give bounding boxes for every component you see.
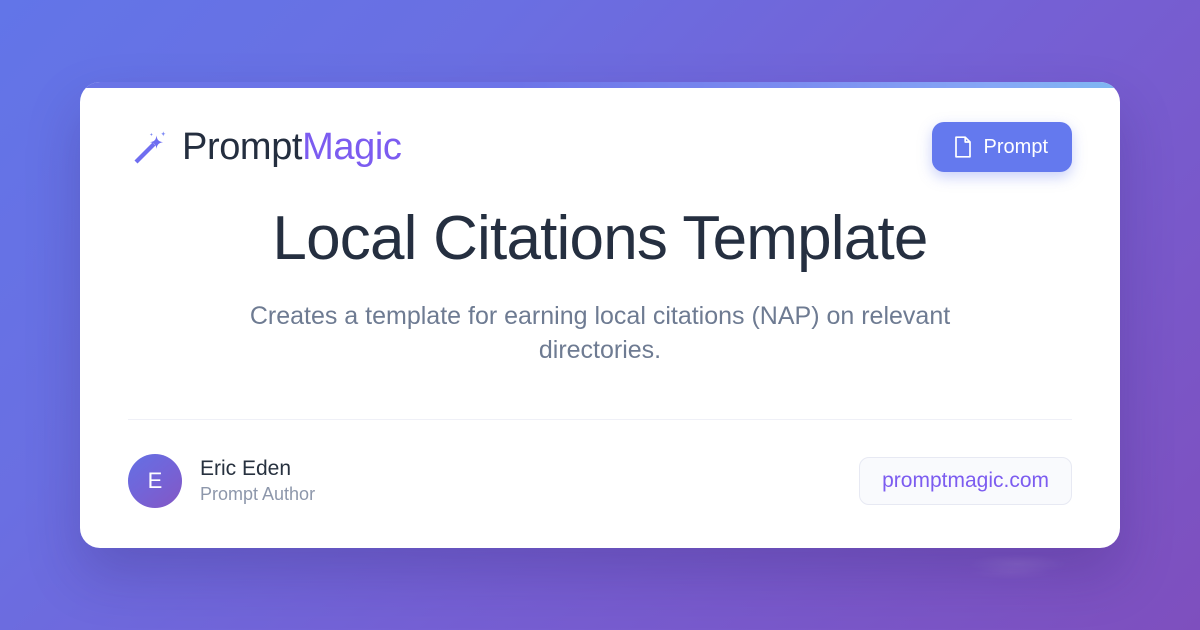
site-url-badge[interactable]: promptmagic.com xyxy=(859,457,1072,505)
document-icon xyxy=(953,136,973,158)
share-card: PromptMagic Prompt Local Citations Templ… xyxy=(80,82,1120,548)
card-footer: E Eric Eden Prompt Author promptmagic.co… xyxy=(80,420,1120,542)
brand-name-accent: Magic xyxy=(302,126,401,168)
page-subtitle: Creates a template for earning local cit… xyxy=(235,299,965,368)
card-body: Local Citations Template Creates a templ… xyxy=(80,206,1120,368)
author-block: E Eric Eden Prompt Author xyxy=(128,454,315,508)
brand-name-primary: Prompt xyxy=(182,126,302,168)
card-header: PromptMagic Prompt xyxy=(80,88,1120,206)
og-image-canvas: PromptMagic Prompt Local Citations Templ… xyxy=(0,0,1200,630)
avatar: E xyxy=(128,454,182,508)
prompt-button[interactable]: Prompt xyxy=(932,122,1072,172)
author-meta: Eric Eden Prompt Author xyxy=(200,457,315,505)
background-watermark xyxy=(935,548,1100,588)
magic-wand-icon xyxy=(128,127,168,167)
author-role: Prompt Author xyxy=(200,484,315,505)
brand-logo[interactable]: PromptMagic xyxy=(128,127,401,167)
brand-name: PromptMagic xyxy=(182,128,401,166)
prompt-button-label: Prompt xyxy=(984,136,1048,159)
page-title: Local Citations Template xyxy=(172,206,1028,273)
author-name: Eric Eden xyxy=(200,457,315,481)
